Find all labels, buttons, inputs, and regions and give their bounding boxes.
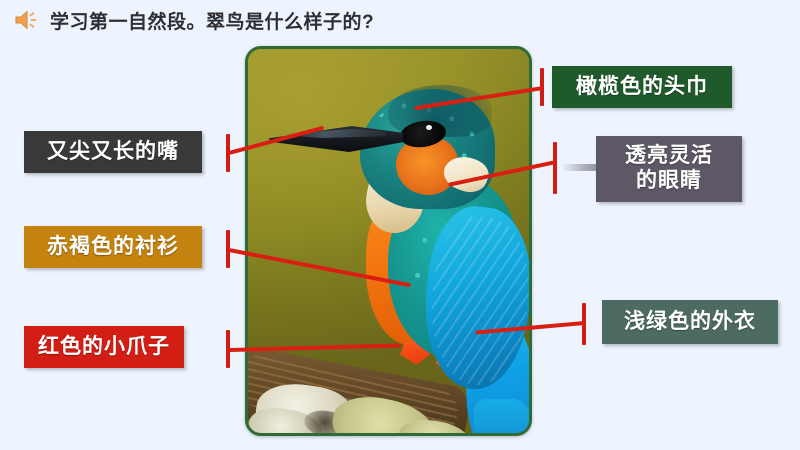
label-red-small-claws[interactable]: 红色的小爪子 bbox=[24, 326, 184, 368]
label-sharp-long-beak[interactable]: 又尖又长的嘴 bbox=[24, 131, 202, 173]
label-bright-lively-eyes[interactable]: 透亮灵活 的眼睛 bbox=[596, 136, 742, 202]
kingfisher-photo bbox=[245, 46, 532, 436]
bird-eye-highlight bbox=[426, 125, 432, 130]
label-light-green-coat[interactable]: 浅绿色的外衣 bbox=[602, 300, 778, 344]
label-text: 橄榄色的头巾 bbox=[576, 75, 708, 100]
bird-tail-tip bbox=[474, 399, 530, 436]
label-olive-headscarf[interactable]: 橄榄色的头巾 bbox=[552, 66, 732, 108]
page-title: 学习第一自然段。翠鸟是什么样子的? bbox=[50, 7, 374, 34]
header-bar: 学习第一自然段。翠鸟是什么样子的? bbox=[0, 0, 800, 40]
slide-canvas: 学习第一自然段。翠鸟是什么样子的? bbox=[0, 0, 800, 450]
label-text-line2: 的眼睛 bbox=[636, 169, 702, 194]
label-text: 又尖又长的嘴 bbox=[47, 140, 179, 165]
label-reddish-brown-shirt[interactable]: 赤褐色的衬衫 bbox=[24, 226, 202, 268]
label-text: 红色的小爪子 bbox=[38, 335, 170, 360]
connector-arrow-eyes bbox=[562, 164, 598, 171]
speaker-icon[interactable] bbox=[14, 9, 40, 31]
label-text-line1: 透亮灵活 bbox=[625, 144, 713, 169]
connector-bracket-eyes bbox=[553, 142, 557, 194]
label-text: 赤褐色的衬衫 bbox=[47, 235, 179, 260]
photo-content bbox=[248, 49, 529, 433]
label-text: 浅绿色的外衣 bbox=[624, 310, 756, 335]
